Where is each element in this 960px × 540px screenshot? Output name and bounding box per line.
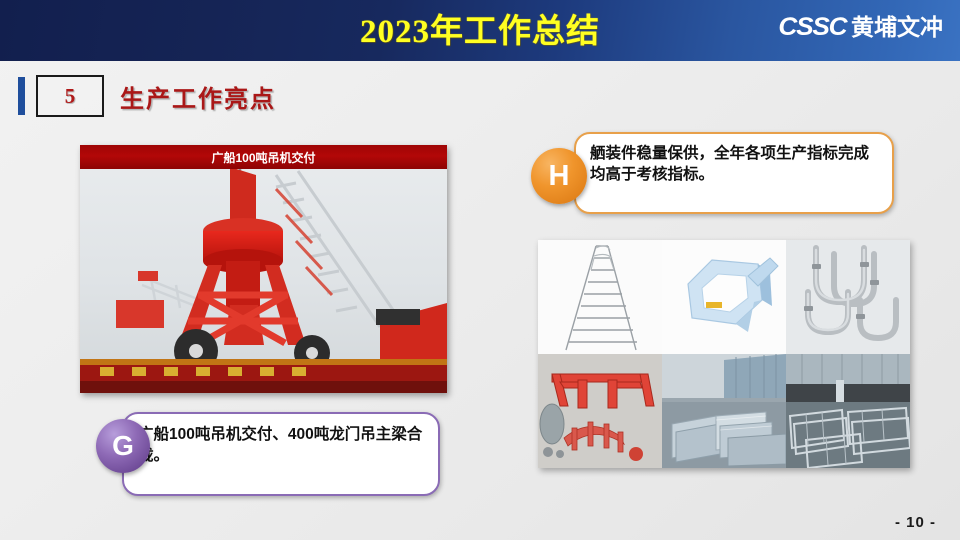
callout-badge-g: G bbox=[96, 419, 150, 473]
callout-box-g: 广船100吨吊机交付、400吨龙门吊主梁合拢。 bbox=[122, 412, 440, 496]
main-photo-caption: 广船100吨吊机交付 bbox=[211, 149, 315, 166]
red-gantry-crane-illustration bbox=[80, 145, 447, 393]
galvanized-grating-stacks-icon bbox=[786, 354, 910, 468]
grid-cell-blue-steel-bracket bbox=[662, 240, 786, 354]
stacked-steel-panels-icon bbox=[662, 354, 786, 468]
grid-cell-steel-ladder-tower bbox=[538, 240, 662, 354]
logo-company-name: 黄埔文冲 bbox=[851, 16, 943, 39]
slide-canvas: 2023年工作总结 CSSC 黄埔文冲 5 生产工作亮点 bbox=[0, 0, 960, 540]
callout-box-h: 舾装件稳量保供，全年各项生产指标完成均高于考核指标。 bbox=[574, 132, 894, 214]
outfitting-photo-grid bbox=[538, 240, 910, 468]
callout-text-g: 广船100吨吊机交付、400吨龙门吊主梁合拢。 bbox=[138, 424, 426, 467]
callout-text-h: 舾装件稳量保供，全年各项生产指标完成均高于考核指标。 bbox=[590, 143, 882, 186]
section-number: 5 bbox=[36, 75, 104, 117]
blue-steel-bracket-icon bbox=[662, 240, 786, 354]
section-title: 生产工作亮点 bbox=[120, 79, 276, 114]
main-photo: 广船100吨吊机交付 bbox=[80, 145, 447, 393]
bent-steel-pipes-icon bbox=[786, 240, 910, 354]
company-logo: CSSC 黄埔文冲 bbox=[780, 15, 943, 40]
logo-mark-text: CSSC bbox=[779, 15, 847, 40]
grid-cell-bent-steel-pipes bbox=[786, 240, 910, 354]
grid-cell-stacked-steel-panels bbox=[662, 354, 786, 468]
page-number: - 10 - bbox=[895, 514, 936, 531]
callout-badge-h: H bbox=[531, 148, 587, 204]
section-accent-bar bbox=[18, 77, 25, 115]
grid-cell-red-steel-frames bbox=[538, 354, 662, 468]
main-photo-caption-banner: 广船100吨吊机交付 bbox=[80, 145, 447, 169]
steel-ladder-tower-icon bbox=[538, 240, 662, 354]
slide-header: 2023年工作总结 CSSC 黄埔文冲 bbox=[0, 0, 960, 61]
red-steel-frames-icon bbox=[538, 354, 662, 468]
grid-cell-galvanized-grating-stacks bbox=[786, 354, 910, 468]
